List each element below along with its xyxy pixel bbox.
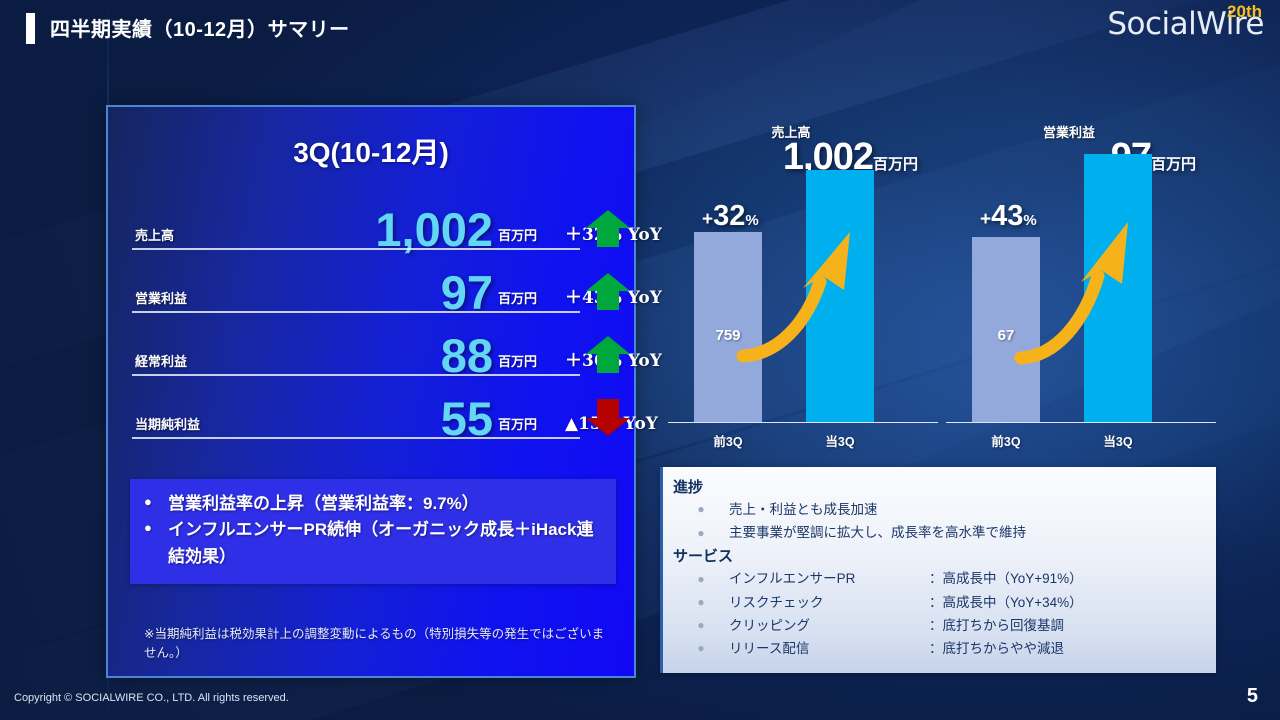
service-row: ● リスクチェック ：高成長中（YoY+34%） [673, 591, 1216, 614]
chart-axis [946, 422, 1216, 424]
page-number: 5 [1247, 685, 1258, 708]
chart-operating-profit: 営業利益 97百万円 +43% 67 前3Q 当3Q [938, 110, 1200, 460]
kpi-unit: 百万円 [498, 225, 537, 244]
kpi-label: 経常利益 [135, 351, 187, 370]
quarter-title: 3Q(10-12月) [108, 131, 634, 171]
footnote: ※当期純利益は税効果計上の調整変動によるもの（特別損失等の発生ではございません。… [144, 625, 614, 663]
kpi-unit: 百万円 [498, 288, 537, 307]
service-name: クリッピング [729, 614, 929, 637]
kpi-value: 97 [303, 269, 493, 316]
kpi-label: 売上高 [135, 225, 174, 244]
kpi-label: 当期純利益 [135, 414, 200, 433]
chart-xtick-label: 当3Q [806, 431, 874, 450]
service-name: インフルエンサーPR [729, 567, 929, 590]
logo-anniversary-badge: 20th [1227, 2, 1262, 22]
bullet-text: インフルエンサーPR続伸（オーガニック成長＋iHack連結効果） [168, 517, 602, 570]
service-row: ● リリース配信 ：底打ちからやや減退 [673, 637, 1216, 660]
bullet-text: 営業利益率の上昇（営業利益率：9.7%） [168, 491, 479, 517]
chart-sales: 売上高 1,002百万円 +32% 759 前3Q 当3Q [660, 110, 922, 460]
arrow-down-red-icon [584, 397, 632, 438]
kpi-label: 営業利益 [135, 288, 187, 307]
kpi-unit: 百万円 [498, 351, 537, 370]
bullet-marker-icon: ● [673, 499, 729, 520]
bullet-item: ● 営業利益率の上昇（営業利益率：9.7%） [144, 491, 602, 517]
bullet-item: ● インフルエンサーPR続伸（オーガニック成長＋iHack連結効果） [144, 517, 602, 570]
service-row: ● インフルエンサーPR ：高成長中（YoY+91%） [673, 567, 1216, 590]
kpi-row: 経常利益 88 百万円 ＋36% YoY [108, 313, 634, 376]
quarter-summary-panel: 3Q(10-12月) 売上高 1,002 百万円 ＋32% YoY 営業利益 9… [106, 105, 636, 678]
copyright-footer: Copyright © SOCIALWIRE CO., LTD. All rig… [14, 692, 289, 704]
service-name: リスクチェック [729, 591, 929, 614]
slide-header: 四半期実績（10-12月）サマリー SocialWire 20th [0, 0, 1280, 56]
page-title: 四半期実績（10-12月）サマリー [50, 13, 350, 42]
kpi-row: 当期純利益 55 百万円 ▲15% YoY [108, 376, 634, 439]
title-accent-bar [26, 13, 35, 44]
service-status: ：底打ちから回復基調 [929, 614, 1216, 637]
services-section-title: サービス [673, 545, 1216, 566]
bullet-marker-icon: ● [673, 615, 729, 636]
chart-xtick-label: 当3Q [1084, 431, 1152, 450]
growth-arrow-icon [938, 110, 1200, 460]
bullet-marker-icon: ● [673, 569, 729, 590]
progress-item-text: 主要事業が堅調に拡大し、成長率を高水準で維持 [729, 521, 1216, 544]
kpi-underline [132, 437, 580, 439]
brand-logo: SocialWire 20th [1107, 6, 1264, 42]
kpi-value: 55 [303, 395, 493, 442]
bullet-marker-icon: ● [673, 523, 729, 544]
arrow-up-green-icon [584, 271, 632, 312]
service-name: リリース配信 [729, 637, 929, 660]
chart-xtick-label: 前3Q [972, 431, 1040, 450]
progress-item: ● 主要事業が堅調に拡大し、成長率を高水準で維持 [673, 521, 1216, 544]
chart-xtick-label: 前3Q [694, 431, 762, 450]
bullet-marker-icon: ● [144, 491, 168, 517]
progress-item: ● 売上・利益とも成長加速 [673, 498, 1216, 521]
highlight-bullets: ● 営業利益率の上昇（営業利益率：9.7%） ● インフルエンサーPR続伸（オー… [130, 479, 616, 584]
service-status: ：高成長中（YoY+91%） [929, 567, 1216, 590]
bullet-marker-icon: ● [673, 638, 729, 659]
chart-axis [668, 422, 938, 424]
kpi-row: 売上高 1,002 百万円 ＋32% YoY [108, 187, 634, 250]
kpi-value: 88 [303, 332, 493, 379]
growth-arrow-icon [660, 110, 922, 460]
kpi-row: 営業利益 97 百万円 ＋43% YoY [108, 250, 634, 313]
bullet-marker-icon: ● [144, 517, 168, 570]
arrow-up-green-icon [584, 208, 632, 249]
service-status: ：底打ちからやや減退 [929, 637, 1216, 660]
service-status: ：高成長中（YoY+34%） [929, 591, 1216, 614]
kpi-list: 売上高 1,002 百万円 ＋32% YoY 営業利益 97 百万円 ＋43% … [108, 187, 634, 439]
arrow-up-green-icon [584, 334, 632, 375]
status-info-panel: 進捗 ● 売上・利益とも成長加速 ● 主要事業が堅調に拡大し、成長率を高水準で維… [660, 467, 1216, 673]
kpi-value: 1,002 [303, 206, 493, 253]
service-row: ● クリッピング ：底打ちから回復基調 [673, 614, 1216, 637]
progress-item-text: 売上・利益とも成長加速 [729, 498, 1216, 521]
bullet-marker-icon: ● [673, 592, 729, 613]
progress-section-title: 進捗 [673, 476, 1216, 497]
kpi-unit: 百万円 [498, 414, 537, 433]
